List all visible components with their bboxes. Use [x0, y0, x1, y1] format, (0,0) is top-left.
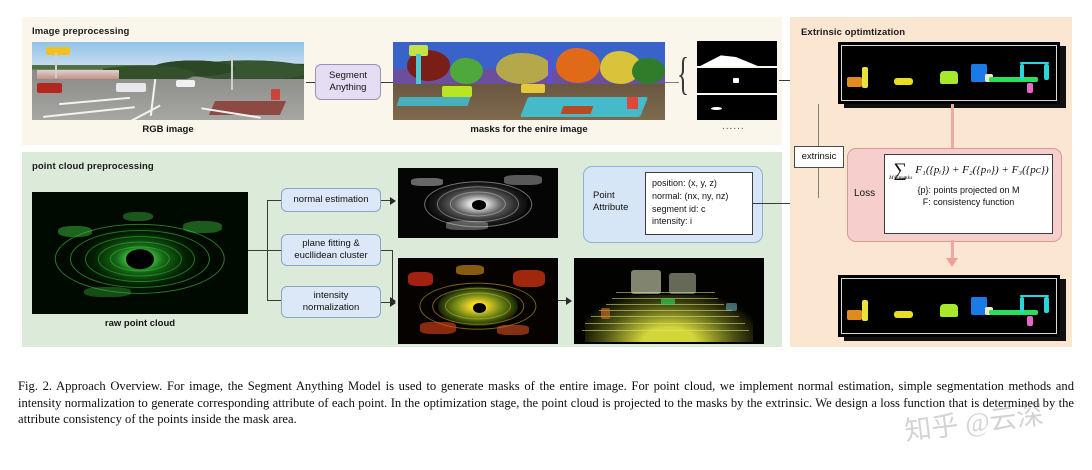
segment-anything-label-line1: Segment [329, 70, 367, 82]
photo-post [271, 89, 279, 100]
normal-cluster [504, 175, 542, 185]
proj-cluster-pink [1027, 83, 1034, 93]
intensity-wall [631, 270, 661, 294]
fanout-branch-bottom [267, 300, 282, 301]
extrinsic-label: extrinsic [802, 151, 837, 163]
loss-formula: ∑ M∈masks F₁({pᵢ}) + F₂({pₙ}) + F₃({pᴄ}) [889, 160, 1048, 181]
segmented-image [393, 42, 665, 120]
photo-car-white [116, 83, 146, 92]
seg-tree-orange [556, 48, 600, 82]
proj-cluster-lime [940, 304, 958, 318]
step-plane-fitting-label-line2: eucllidean cluster [294, 250, 367, 262]
proj-cluster-yellow [894, 78, 914, 85]
photo-sign [46, 47, 70, 56]
seg-patch-brown [560, 106, 593, 114]
intensity-wall [669, 273, 696, 294]
step-intensity-label-line2: normalization [303, 302, 360, 314]
proj-cluster-yellow [894, 311, 914, 318]
scan-line [585, 323, 745, 324]
pink-line-proj-to-loss [951, 104, 954, 148]
normal-cluster [411, 178, 443, 186]
cluster-red [408, 272, 434, 286]
proj-cluster-green-bar [989, 310, 1038, 315]
seg-tree-green [450, 58, 483, 85]
panel-point-cloud-title: point cloud preprocessing [32, 161, 154, 172]
step-plane-fitting-label-line1: plane fitting & [302, 238, 360, 250]
summation-subscript: M∈masks [889, 175, 913, 181]
mask-shape-road [700, 55, 758, 67]
step-box-intensity-normalization[interactable]: intensity normalization [281, 286, 381, 318]
mask-shape-car [733, 78, 739, 83]
loss-note-function: F: consistency function [889, 196, 1048, 208]
proj-cluster-lime [940, 71, 958, 85]
intensity-object-orange [601, 308, 611, 319]
point-attribute-label: Point Attribute [593, 190, 628, 214]
summation-symbol-group: ∑ M∈masks [889, 160, 913, 181]
projection-result-top [838, 42, 1060, 104]
attribute-position: position: (x, y, z) [652, 177, 746, 190]
proj-cluster-cyan-leg [1020, 297, 1024, 313]
brace-left: { [677, 51, 689, 97]
photo-car-far [176, 80, 195, 87]
seg-lane-left [397, 97, 471, 106]
proj-cluster-pink [1027, 316, 1034, 326]
line-extrinsic-up [818, 104, 819, 146]
point-attribute-label-line2: Attribute [593, 202, 628, 214]
loss-formula-panel: ∑ M∈masks F₁({pᵢ}) + F₂({pₙ}) + F₃({pᴄ})… [884, 154, 1053, 234]
attribute-normal: normal: (nx, ny, nz) [652, 190, 746, 203]
segment-anything-box[interactable]: Segment Anything [315, 64, 381, 100]
proj-cluster-cyan-leg [1044, 297, 1048, 313]
attribute-segment-id: segment id: c [652, 203, 746, 216]
proj-cluster-orange [847, 310, 863, 320]
cluster-result-image [398, 258, 558, 344]
arrow-line-plane-down [392, 250, 393, 302]
seg-car-lime [442, 86, 472, 97]
attribute-intensity: intensity: i [652, 215, 746, 228]
intensity-normalized-image [574, 258, 764, 344]
step-box-plane-fitting[interactable]: plane fitting & eucllidean cluster [281, 234, 381, 266]
loss-label: Loss [854, 188, 875, 199]
mask-thumbnail-1 [697, 41, 777, 66]
mask-thumbnail-2 [697, 68, 777, 93]
extrinsic-box[interactable]: extrinsic [794, 146, 844, 168]
mask-ellipsis: ...... [722, 121, 745, 132]
cluster-red [497, 325, 529, 335]
line-extrinsic-down [818, 168, 819, 198]
step-box-normal-estimation[interactable]: normal estimation [281, 188, 381, 212]
proj-cluster-yellow-tall [862, 300, 868, 321]
intensity-object-green [661, 298, 674, 306]
seg-pole [416, 54, 420, 84]
figure-canvas: Image preprocessing RGB image Segment An… [0, 0, 1092, 470]
photo-bike-lane [208, 101, 285, 115]
scan-line [599, 310, 732, 311]
step-intensity-label-line1: intensity [314, 290, 349, 302]
lidar-cluster [58, 226, 93, 237]
seg-car-yellow [521, 84, 545, 93]
step-normal-estimation-label: normal estimation [294, 194, 369, 206]
normal-blind-spot [472, 200, 486, 210]
panel-image-preprocessing-title: Image preprocessing [32, 26, 129, 37]
seg-tree-olive [496, 53, 550, 84]
cluster-red [513, 270, 545, 287]
lidar-cluster [183, 221, 222, 233]
pink-arrow-head-to-result [946, 258, 958, 267]
mask-thumbnail-3 [697, 95, 777, 120]
seg-tree-darkgreen [632, 58, 665, 85]
rgb-image [32, 42, 304, 120]
segmented-image-caption: masks for the enire image [393, 124, 665, 135]
lidar-cluster [84, 287, 132, 297]
point-attribute-list: position: (x, y, z) normal: (nx, ny, nz)… [645, 172, 753, 235]
cluster-orange [456, 265, 485, 275]
mask-shape-small [711, 107, 721, 110]
proj-cluster-orange [847, 77, 863, 87]
cluster-blind-spot [473, 303, 486, 313]
photo-car-red [37, 83, 61, 93]
panel-extrinsic-title: Extrinsic optimtization [801, 27, 905, 38]
lidar-cluster [123, 212, 153, 222]
proj-cluster-cyan-leg [1044, 64, 1048, 80]
seg-post-red [627, 97, 638, 109]
scan-line [582, 330, 749, 331]
lidar-blind-spot [126, 249, 154, 269]
photo-sign-pole [55, 53, 57, 78]
raw-point-cloud-caption: raw point cloud [32, 318, 248, 329]
fanout-branch-top [267, 200, 282, 201]
projection-result-bottom [838, 275, 1060, 337]
point-attribute-label-line1: Point [593, 190, 628, 202]
seg-pole-2 [548, 50, 552, 84]
normal-estimation-result-image [398, 168, 558, 238]
figure-caption: Fig. 2. Approach Overview. For image, th… [18, 378, 1074, 428]
arrow-head-to-intensity-img [566, 297, 572, 305]
fanout-stem [248, 250, 268, 251]
photo-utility-pole [231, 54, 233, 90]
proj-cluster-cyan-leg [1020, 64, 1024, 80]
cluster-red [420, 322, 455, 334]
proj-cluster-yellow-tall [862, 67, 868, 88]
rgb-image-caption: RGB image [32, 124, 304, 135]
loss-formula-body: F₁({pᵢ}) + F₂({pₙ}) + F₃({pᴄ}) [915, 164, 1048, 176]
loss-note-points: {p}: points projected on M [889, 184, 1048, 196]
fanout-branch-mid [267, 250, 282, 251]
proj-cluster-green-bar [989, 77, 1038, 82]
arrow-head-intensity-out [390, 299, 396, 307]
segment-anything-label-line2: Anything [330, 82, 367, 94]
arrow-head-normal-out [390, 197, 396, 205]
intensity-object-cyan [726, 303, 737, 312]
scan-line [591, 316, 739, 317]
raw-point-cloud-image [32, 192, 248, 314]
normal-cluster [446, 221, 488, 229]
